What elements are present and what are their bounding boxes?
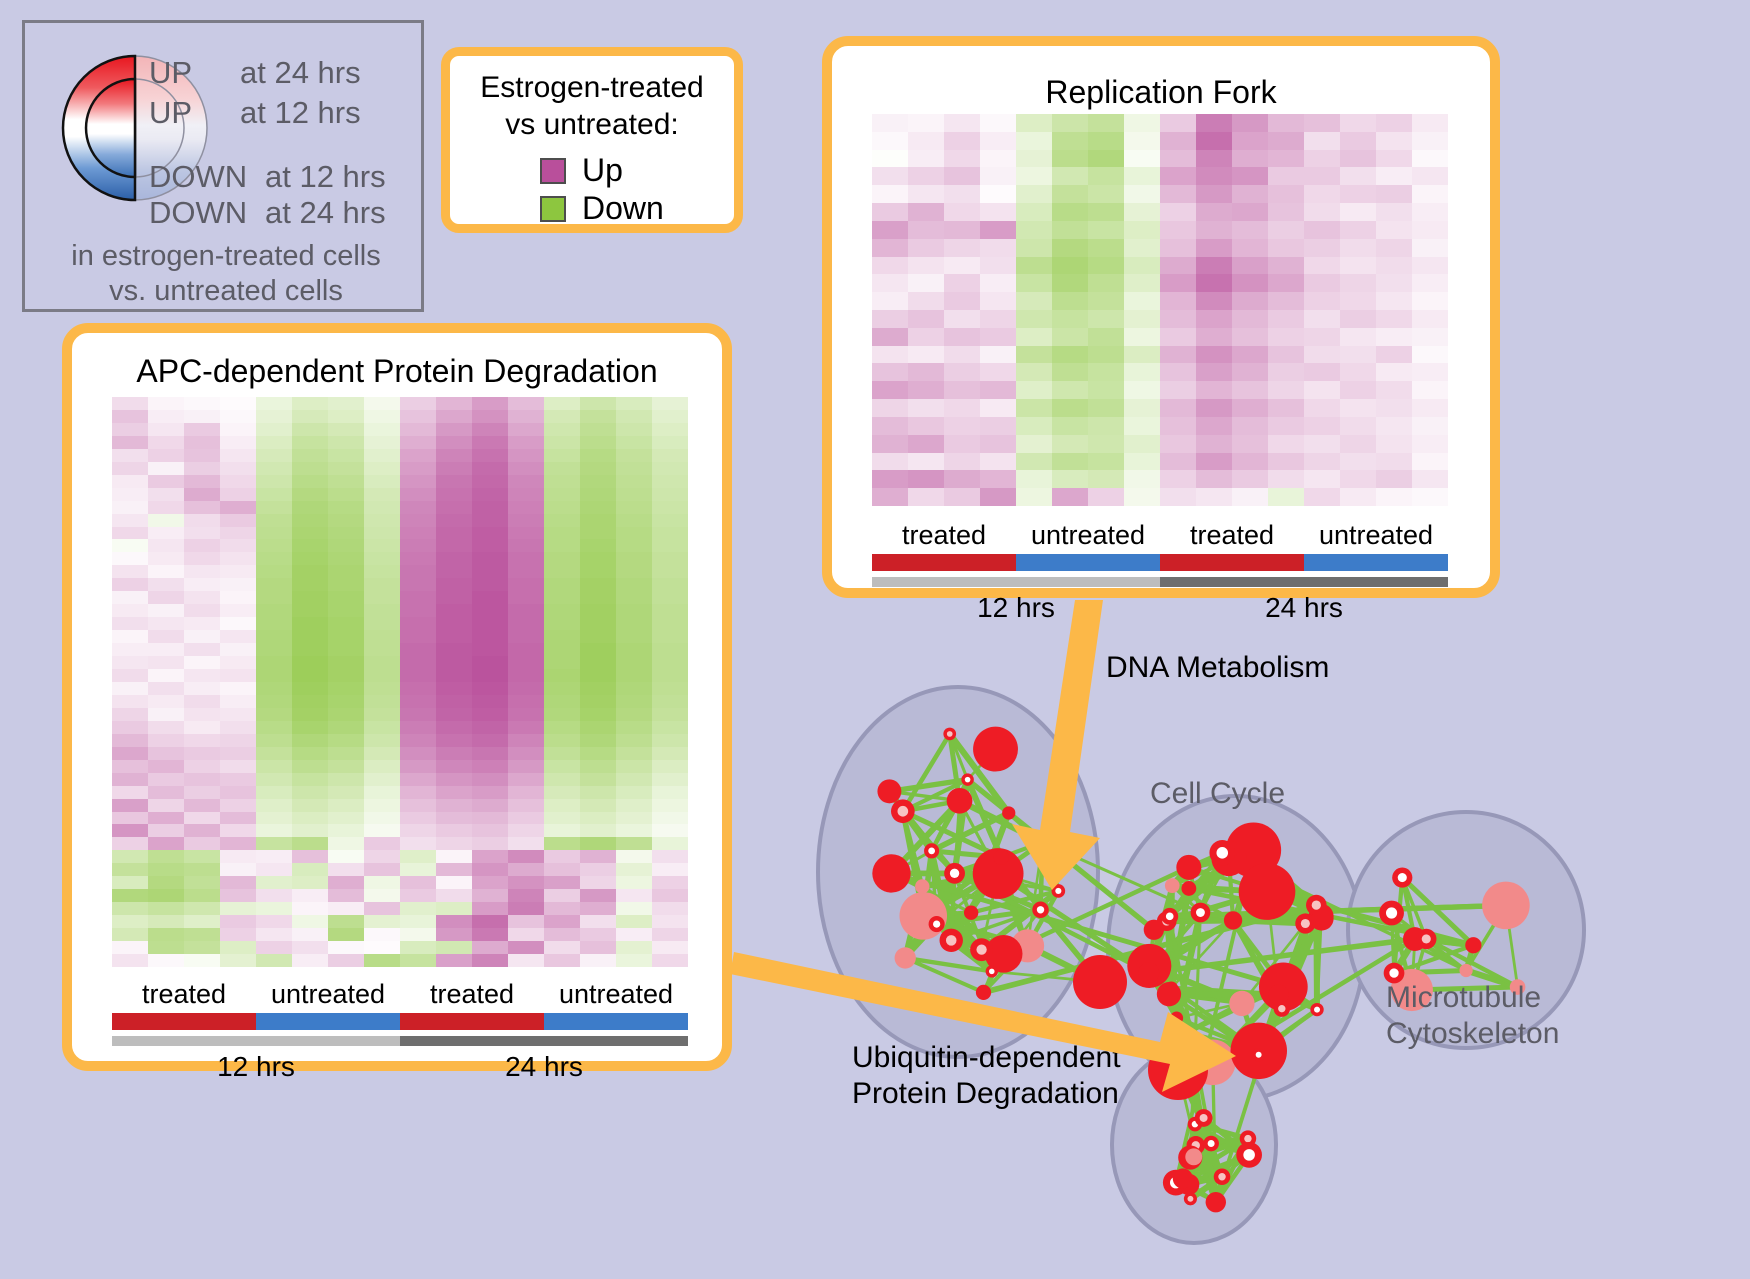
- heatmap-cell: [256, 617, 292, 630]
- heatmap-cell: [256, 889, 292, 902]
- heatmap-cell: [616, 449, 652, 462]
- heatmap-cell: [148, 630, 184, 643]
- heatmap-cell: [256, 630, 292, 643]
- heatmap-cell: [508, 928, 544, 941]
- heatmap-cell: [364, 799, 400, 812]
- heatmap-cell: [1340, 132, 1376, 150]
- heatmap-cell: [872, 167, 908, 185]
- heatmap-cell: [220, 514, 256, 527]
- heatmap-cell: [1160, 310, 1196, 328]
- heatmap-cell: [1412, 470, 1448, 488]
- heatmap-cell: [184, 695, 220, 708]
- heatmap-cell: [980, 399, 1016, 417]
- heatmap-cell: [328, 928, 364, 941]
- network-node[interactable]: [1209, 840, 1235, 866]
- heatmap-cell: [1052, 363, 1088, 381]
- heatmap-cell: [364, 501, 400, 514]
- heatmap-cell: [980, 167, 1016, 185]
- heatmap-cell: [980, 381, 1016, 399]
- heatmap-cell: [616, 773, 652, 786]
- heatmap-cell: [544, 954, 580, 967]
- network-node[interactable]: [1157, 982, 1181, 1006]
- heatmap-cell: [508, 669, 544, 682]
- heatmap-cell: [1196, 470, 1232, 488]
- heatmap-cell: [872, 310, 908, 328]
- heatmap-cell: [544, 682, 580, 695]
- heatmap-cell: [184, 824, 220, 837]
- heatmap-cell: [508, 501, 544, 514]
- heatmap-cell: [292, 539, 328, 552]
- network-node[interactable]: [1206, 1192, 1226, 1212]
- heatmap-cell: [148, 824, 184, 837]
- heatmap-cell: [112, 747, 148, 760]
- network-node[interactable]: [1052, 884, 1066, 898]
- heatmap-cell: [472, 928, 508, 941]
- heatmap-cell: [184, 643, 220, 656]
- network-node[interactable]: [970, 938, 993, 961]
- group-label-2: treated: [400, 979, 544, 1010]
- heatmap-cell: [148, 656, 184, 669]
- heatmap-cell: [908, 203, 944, 221]
- heatmap-cell: [436, 889, 472, 902]
- heatmap-cell: [616, 501, 652, 514]
- heatmap-cell: [616, 941, 652, 954]
- heatmap-cell: [652, 695, 688, 708]
- network-node[interactable]: [1138, 962, 1159, 983]
- heatmap-cell: [1412, 399, 1448, 417]
- heatmap-cell: [944, 257, 980, 275]
- heatmap-cell: [112, 824, 148, 837]
- network-node[interactable]: [899, 892, 947, 940]
- network-node[interactable]: [1073, 955, 1127, 1009]
- heatmap-cell: [220, 954, 256, 967]
- cluster-label-cell-cycle: Cell Cycle: [1150, 776, 1285, 812]
- heatmap-cell: [256, 669, 292, 682]
- heatmap-cell: [1232, 114, 1268, 132]
- heatmap-cell: [1232, 310, 1268, 328]
- network-node[interactable]: [1173, 1168, 1193, 1188]
- heatmap-cell: [1124, 221, 1160, 239]
- heatmap-cell: [220, 669, 256, 682]
- heatmap-cell: [112, 643, 148, 656]
- heatmap-cell: [400, 863, 436, 876]
- heatmap-cell: [508, 941, 544, 954]
- heatmap-cell: [508, 552, 544, 565]
- heatmap-cell: [256, 941, 292, 954]
- heatmap-cell: [256, 488, 292, 501]
- network-node[interactable]: [1239, 863, 1296, 920]
- network-node[interactable]: [986, 965, 998, 977]
- network-node[interactable]: [1306, 895, 1327, 916]
- network-node[interactable]: [1176, 855, 1201, 880]
- heatmap-cell: [436, 501, 472, 514]
- network-node[interactable]: [1191, 903, 1211, 923]
- heatmap-cell: [872, 346, 908, 364]
- network-node[interactable]: [1465, 937, 1481, 953]
- heatmap-cell: [1196, 381, 1232, 399]
- network-node[interactable]: [891, 799, 915, 823]
- heatmap-cell: [220, 889, 256, 902]
- network-node[interactable]: [947, 788, 973, 814]
- heatmap-cell: [580, 591, 616, 604]
- heatmap-cell: [580, 863, 616, 876]
- network-node[interactable]: [1032, 902, 1048, 918]
- network-node[interactable]: [1165, 878, 1180, 893]
- heatmap-cell: [184, 915, 220, 928]
- heatmap-cell: [508, 889, 544, 902]
- node-core: [1256, 1052, 1262, 1058]
- heatmap-cell: [220, 876, 256, 889]
- heatmap-cell: [292, 604, 328, 617]
- heatmap-cell: [1124, 346, 1160, 364]
- network-node[interactable]: [961, 773, 973, 785]
- network-node[interactable]: [1161, 908, 1178, 925]
- heatmap-cell: [112, 928, 148, 941]
- heatmap-cell: [1160, 363, 1196, 381]
- heatmap-cell: [580, 812, 616, 825]
- heatmap-cell: [980, 150, 1016, 168]
- network-node[interactable]: [1214, 1168, 1231, 1185]
- heatmap-cell: [1268, 292, 1304, 310]
- heatmap-cell: [1268, 274, 1304, 292]
- heatmap-cell: [1376, 114, 1412, 132]
- network-node[interactable]: [1203, 1136, 1219, 1152]
- heatmap-cell: [1088, 150, 1124, 168]
- heatmap-cell: [1160, 114, 1196, 132]
- node-core: [1055, 888, 1061, 894]
- heatmap-cell: [292, 863, 328, 876]
- treatment-bar-seg-0: [872, 554, 1016, 571]
- heatmap-cell: [400, 565, 436, 578]
- heatmap-cell: [436, 475, 472, 488]
- heatmap-cell: [580, 876, 616, 889]
- legend-item-up: Up: [540, 152, 623, 189]
- network-node[interactable]: [1148, 1040, 1208, 1100]
- network-node[interactable]: [993, 850, 1008, 865]
- network-node[interactable]: [924, 843, 939, 858]
- heatmap-cell: [872, 185, 908, 203]
- heatmap-cell: [220, 773, 256, 786]
- heatmap-cell: [256, 915, 292, 928]
- heatmap-cell: [1232, 132, 1268, 150]
- heatmap-cell: [1340, 453, 1376, 471]
- time-bar-seg-12h: [872, 577, 1160, 587]
- heatmap-cell: [184, 747, 220, 760]
- heatmap-cell: [1340, 185, 1376, 203]
- network-node[interactable]: [1181, 881, 1196, 896]
- network-node[interactable]: [872, 854, 910, 892]
- heatmap-cell: [652, 449, 688, 462]
- node-disc: [1206, 1192, 1226, 1212]
- heatmap-cell: [1412, 203, 1448, 221]
- heatmap-cell: [148, 876, 184, 889]
- network-node[interactable]: [1295, 913, 1315, 933]
- heatmap-cell: [1412, 274, 1448, 292]
- heatmap-cell: [508, 708, 544, 721]
- node-disc: [872, 854, 910, 892]
- heatmap-cell: [616, 863, 652, 876]
- heatmap-cell: [652, 747, 688, 760]
- heatmap-cell: [652, 501, 688, 514]
- heatmap-cell: [1232, 239, 1268, 257]
- heatmap-cell: [436, 812, 472, 825]
- heatmap-cell: [1016, 346, 1052, 364]
- network-node[interactable]: [1170, 1011, 1183, 1024]
- heatmap-cell: [544, 630, 580, 643]
- network-node[interactable]: [973, 727, 1018, 772]
- node-disc: [1144, 920, 1164, 940]
- legend-row-0-time: at 24 hrs: [240, 55, 361, 91]
- heatmap-cell: [508, 812, 544, 825]
- network-node[interactable]: [929, 916, 945, 932]
- heatmap-cell: [1376, 274, 1412, 292]
- heatmap-cell: [1304, 167, 1340, 185]
- network-node[interactable]: [1180, 1026, 1193, 1039]
- heatmap-cell: [472, 462, 508, 475]
- heatmap-cell: [652, 876, 688, 889]
- heatmap-cell: [220, 747, 256, 760]
- heatmap-cell: [292, 695, 328, 708]
- heatmap-cell: [112, 436, 148, 449]
- heatmap-cell: [436, 773, 472, 786]
- heatmap-cell: [328, 734, 364, 747]
- heatmap-cell: [328, 863, 364, 876]
- heatmap-cell: [1052, 346, 1088, 364]
- heatmap-cell: [544, 889, 580, 902]
- heatmap-cell: [292, 824, 328, 837]
- heatmap-cell: [328, 397, 364, 410]
- apc-degradation-title: APC-dependent Protein Degradation: [72, 353, 722, 390]
- network-node[interactable]: [1236, 1142, 1262, 1168]
- heatmap-cell: [1412, 417, 1448, 435]
- network-node[interactable]: [895, 947, 916, 968]
- heatmap-cell: [616, 527, 652, 540]
- heatmap-cell: [616, 669, 652, 682]
- node-disc: [1173, 1168, 1193, 1188]
- heatmap-cell: [580, 397, 616, 410]
- heatmap-cell: [220, 708, 256, 721]
- network-node[interactable]: [1310, 1003, 1323, 1016]
- network-node[interactable]: [1252, 1048, 1265, 1061]
- heatmap-cell: [580, 552, 616, 565]
- heatmap-cell: [1232, 203, 1268, 221]
- heatmap-cell: [1268, 453, 1304, 471]
- heatmap-cell: [220, 449, 256, 462]
- network-node[interactable]: [1002, 806, 1015, 819]
- heatmap-cell: [436, 462, 472, 475]
- heatmap-cell: [980, 274, 1016, 292]
- node-disc: [877, 779, 901, 803]
- heatmap-cell: [112, 812, 148, 825]
- heatmap-cell: [652, 824, 688, 837]
- heatmap-cell: [1088, 470, 1124, 488]
- heatmap-cell: [184, 656, 220, 669]
- heatmap-cell: [400, 527, 436, 540]
- heatmap-cell: [580, 954, 616, 967]
- heatmap-cell: [652, 863, 688, 876]
- heatmap-cell: [580, 565, 616, 578]
- network-node[interactable]: [940, 929, 963, 952]
- heatmap-cell: [1304, 399, 1340, 417]
- network-node[interactable]: [1392, 867, 1412, 887]
- heatmap-cell: [220, 682, 256, 695]
- heatmap-cell: [220, 436, 256, 449]
- heatmap-cell: [1016, 167, 1052, 185]
- network-node[interactable]: [1482, 882, 1530, 930]
- heatmap-cell: [112, 527, 148, 540]
- heatmap-cell: [148, 721, 184, 734]
- heatmap-cell: [220, 630, 256, 643]
- heatmap-cell: [184, 786, 220, 799]
- heatmap-cell: [112, 604, 148, 617]
- heatmap-cell: [472, 539, 508, 552]
- heatmap-cell: [1196, 346, 1232, 364]
- heatmap-cell: [1340, 310, 1376, 328]
- heatmap-cell: [980, 346, 1016, 364]
- heatmap-cell: [616, 565, 652, 578]
- heatmap-cell: [1196, 363, 1232, 381]
- heatmap-cell: [944, 488, 980, 506]
- heatmap-cell: [148, 928, 184, 941]
- network-node[interactable]: [1459, 964, 1472, 977]
- heatmap-cell: [616, 488, 652, 501]
- heatmap-cell: [472, 423, 508, 436]
- heatmap-cell: [328, 837, 364, 850]
- heatmap-cell: [1196, 399, 1232, 417]
- heatmap-cell: [292, 799, 328, 812]
- heatmap-cell: [292, 773, 328, 786]
- heatmap-cell: [1412, 346, 1448, 364]
- network-node[interactable]: [1379, 901, 1404, 926]
- node-core: [1218, 1173, 1225, 1180]
- heatmap-cell: [1196, 274, 1232, 292]
- node-disc: [1170, 1011, 1183, 1024]
- network-node[interactable]: [1229, 991, 1254, 1016]
- heatmap-cell: [220, 617, 256, 630]
- heatmap-cell: [544, 876, 580, 889]
- heatmap-cell: [616, 656, 652, 669]
- heatmap-cell: [472, 591, 508, 604]
- heatmap-cell: [872, 203, 908, 221]
- heatmap-cell: [472, 604, 508, 617]
- heatmap-cell: [616, 928, 652, 941]
- heatmap-cell: [472, 876, 508, 889]
- heatmap-cell: [184, 552, 220, 565]
- heatmap-cell: [1376, 417, 1412, 435]
- heatmap-cell: [1412, 435, 1448, 453]
- heatmap-cell: [652, 462, 688, 475]
- heatmap-cell: [400, 682, 436, 695]
- heatmap-cell: [364, 539, 400, 552]
- heatmap-cell: [364, 656, 400, 669]
- heatmap-cell: [544, 539, 580, 552]
- heatmap-cell: [472, 552, 508, 565]
- network-node[interactable]: [1274, 1001, 1290, 1017]
- heatmap-cell: [580, 449, 616, 462]
- heatmap-cell: [1124, 185, 1160, 203]
- heatmap-cell: [184, 708, 220, 721]
- network-node[interactable]: [1416, 929, 1436, 949]
- network-node[interactable]: [943, 728, 956, 741]
- network-node[interactable]: [944, 863, 965, 884]
- heatmap-cell: [652, 397, 688, 410]
- heatmap-cell: [112, 850, 148, 863]
- heatmap-cell: [364, 410, 400, 423]
- heatmap-cell: [908, 221, 944, 239]
- heatmap-cell: [544, 462, 580, 475]
- heatmap-cell: [1160, 470, 1196, 488]
- network-node[interactable]: [877, 779, 901, 803]
- panel-replication-fork: Replication Fork treated untreated treat…: [822, 36, 1500, 598]
- network-node[interactable]: [976, 985, 991, 1000]
- heatmap-cell: [472, 812, 508, 825]
- heatmap-cell: [1124, 328, 1160, 346]
- heatmap-cell: [148, 501, 184, 514]
- heatmap-cell: [1016, 453, 1052, 471]
- heatmap-cell: [184, 799, 220, 812]
- heatmap-cell: [1088, 328, 1124, 346]
- heatmap-cell: [184, 591, 220, 604]
- heatmap-cell: [364, 786, 400, 799]
- heatmap-cell: [872, 381, 908, 399]
- heatmap-cell: [580, 928, 616, 941]
- heatmap-cell: [400, 786, 436, 799]
- heatmap-cell: [1196, 221, 1232, 239]
- heatmap-cell: [1088, 363, 1124, 381]
- heatmap-cell: [616, 708, 652, 721]
- node-core: [1312, 900, 1321, 909]
- network-node[interactable]: [964, 906, 978, 920]
- heatmap-cell: [508, 449, 544, 462]
- heatmap-cell: [292, 786, 328, 799]
- heatmap-cell: [980, 221, 1016, 239]
- heatmap-cell: [328, 669, 364, 682]
- heatmap-cell: [292, 527, 328, 540]
- heatmap-cell: [436, 837, 472, 850]
- network-node[interactable]: [1185, 1148, 1202, 1165]
- heatmap-cell: [508, 876, 544, 889]
- heatmap-cell: [472, 630, 508, 643]
- heatmap-cell: [616, 876, 652, 889]
- heatmap-cell: [220, 824, 256, 837]
- node-core: [1389, 968, 1398, 977]
- replication-fork-title: Replication Fork: [832, 74, 1490, 111]
- heatmap-cell: [908, 328, 944, 346]
- network-node[interactable]: [1195, 1109, 1213, 1127]
- heatmap-cell: [1124, 257, 1160, 275]
- network-node[interactable]: [915, 879, 929, 893]
- heatmap-cell: [508, 630, 544, 643]
- heatmap-cell: [256, 475, 292, 488]
- heatmap-cell: [436, 876, 472, 889]
- heatmap-cell: [544, 928, 580, 941]
- heatmap-cell: [1124, 114, 1160, 132]
- network-node[interactable]: [1031, 831, 1054, 854]
- heatmap-cell: [436, 928, 472, 941]
- heatmap-cell: [328, 539, 364, 552]
- heatmap-cell: [292, 747, 328, 760]
- heatmap-cell: [184, 850, 220, 863]
- heatmap-cell: [1196, 257, 1232, 275]
- heatmap-cell: [328, 760, 364, 773]
- heatmap-cell: [580, 837, 616, 850]
- network-node[interactable]: [1224, 911, 1242, 929]
- heatmap-cell: [1124, 203, 1160, 221]
- heatmap-cell: [400, 799, 436, 812]
- network-node[interactable]: [1144, 920, 1164, 940]
- heatmap-cell: [220, 410, 256, 423]
- heatmap-cell: [1160, 239, 1196, 257]
